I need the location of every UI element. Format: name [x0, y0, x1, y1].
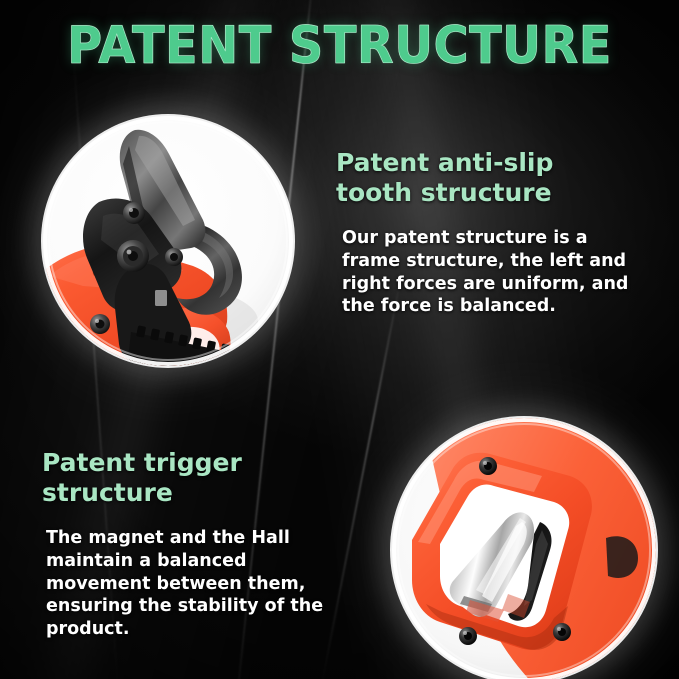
feature-heading-line-1: Patent trigger — [42, 448, 242, 477]
feature-heading-line-2: tooth structure — [336, 178, 552, 207]
feature-heading-line-2: structure — [42, 478, 173, 507]
photo-pruning-shear-blade — [43, 116, 293, 366]
feature-heading-anti-slip: Patent anti-slip tooth structure — [336, 148, 646, 207]
feature-body-trigger: The magnet and the Hall maintain a balan… — [42, 527, 354, 641]
feature-text-anti-slip: Patent anti-slip tooth structure Our pat… — [336, 148, 646, 318]
page-title: PATENT STRUCTURE — [27, 16, 652, 76]
feature-text-trigger: Patent trigger structure The magnet and … — [42, 448, 354, 641]
patent-structure-poster: PATENT STRUCTURE — [0, 0, 679, 679]
feature-heading-line-1: Patent anti-slip — [336, 148, 553, 177]
feature-body-anti-slip: Our patent structure is a frame structur… — [336, 227, 646, 318]
feature-heading-trigger: Patent trigger structure — [42, 448, 354, 507]
photo-pruning-shear-trigger — [392, 418, 656, 679]
